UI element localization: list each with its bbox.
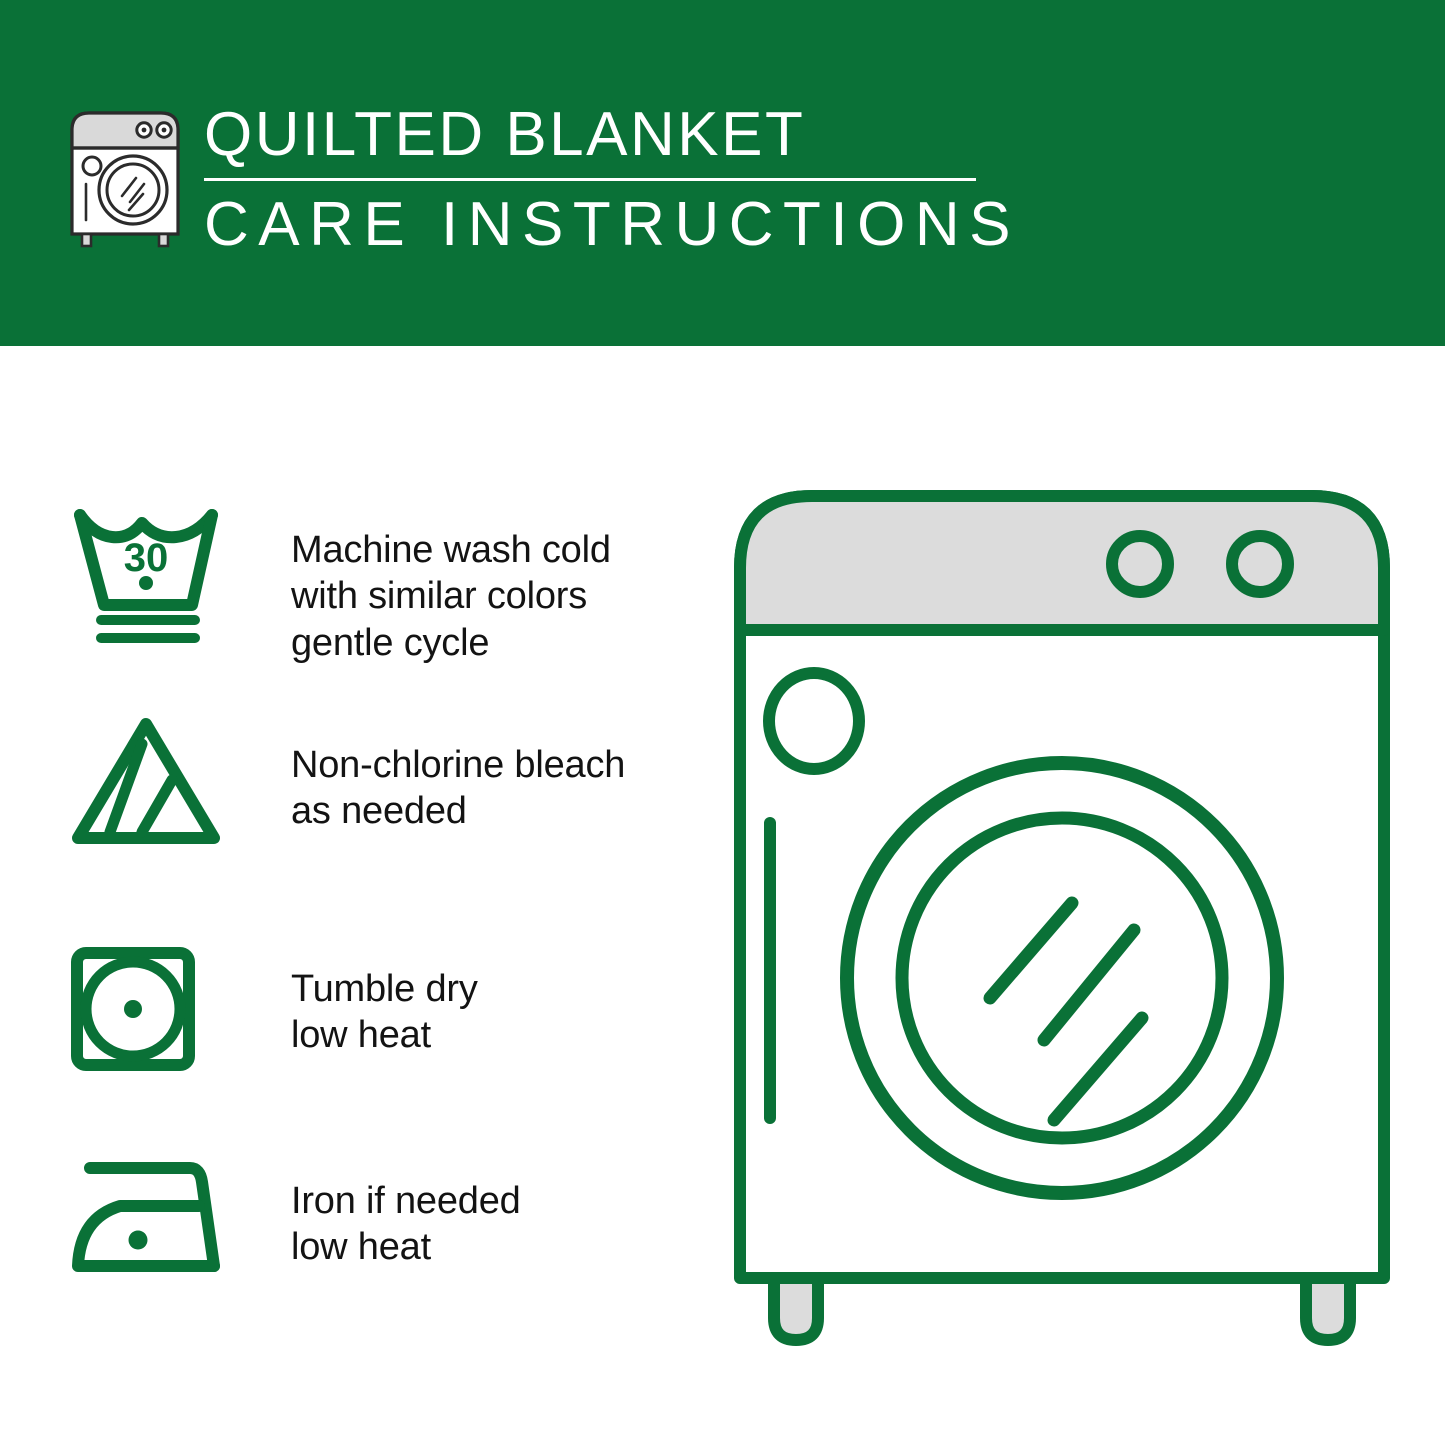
bleach-triangle-icon [68, 714, 228, 859]
svg-text:30: 30 [124, 536, 169, 580]
leg-right [1306, 1278, 1350, 1340]
washing-machine-icon [66, 108, 184, 248]
header-bar: QUILTED BLANKET CARE INSTRUCTIONS [0, 0, 1445, 346]
header-divider [204, 178, 976, 181]
detergent-dial [769, 673, 859, 769]
care-instruction-row: Non-chlorine bleach as needed [0, 714, 700, 864]
tumble-dry-icon [68, 944, 203, 1079]
wash-tub-30-icon: 30 [68, 501, 228, 656]
page-subtitle: CARE INSTRUCTIONS [204, 192, 994, 257]
care-instruction-row: 30 Machine wash cold with similar colors… [0, 501, 700, 661]
leg-left [774, 1278, 818, 1340]
iron-icon [68, 1156, 228, 1286]
washing-machine-illustration [722, 478, 1402, 1358]
care-instruction-row: Tumble dry low heat [0, 944, 700, 1079]
page-title: QUILTED BLANKET [204, 103, 994, 166]
care-instruction-row: Iron if needed low heat [0, 1156, 700, 1291]
care-instruction-text: Machine wash cold with similar colors ge… [291, 527, 611, 666]
care-instruction-text: Tumble dry low heat [291, 966, 478, 1059]
door-inner-ring [902, 818, 1222, 1138]
header-text-block: QUILTED BLANKET CARE INSTRUCTIONS [204, 103, 994, 257]
knob-right [1232, 536, 1288, 592]
care-instruction-text: Non-chlorine bleach as needed [291, 742, 625, 835]
knob-left [1112, 536, 1168, 592]
care-instruction-text: Iron if needed low heat [291, 1178, 521, 1271]
care-instructions-page: QUILTED BLANKET CARE INSTRUCTIONS 30 Mac… [0, 0, 1445, 1445]
